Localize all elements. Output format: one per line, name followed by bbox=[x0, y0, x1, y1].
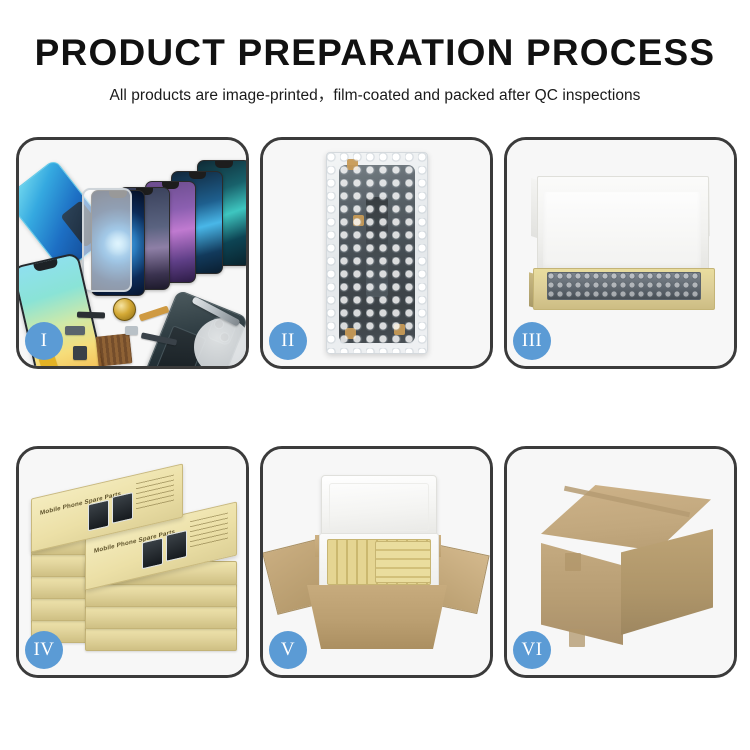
carton-tape-upper bbox=[565, 553, 581, 571]
small-part-6 bbox=[59, 368, 73, 369]
panel-step-4: Mobile Phone Spare Parts Mobile Phone Sp… bbox=[16, 446, 249, 678]
box-image-chip-2 bbox=[112, 492, 133, 524]
panel-step-5: V bbox=[260, 446, 493, 678]
screw-tray-icon bbox=[96, 333, 133, 366]
stacked-box-front-3 bbox=[85, 583, 237, 607]
badge-step-2: II bbox=[269, 322, 307, 360]
flex-cable-3 bbox=[77, 312, 105, 319]
panel-step-2: II bbox=[260, 137, 493, 369]
box-stack: Mobile Phone Spare Parts Mobile Phone Sp… bbox=[27, 469, 243, 665]
badge-step-1: I bbox=[25, 322, 63, 360]
carton-front-wall bbox=[307, 585, 447, 649]
badge-step-3: III bbox=[513, 322, 551, 360]
page-header: PRODUCT PREPARATION PROCESS All products… bbox=[0, 0, 750, 105]
hand-icon bbox=[194, 318, 249, 369]
panel-step-3: III bbox=[504, 137, 737, 369]
tape-tab-2 bbox=[353, 215, 364, 226]
badge-step-4: IV bbox=[25, 631, 63, 669]
foam-box-lid bbox=[321, 475, 437, 539]
bubble-wrap-bag bbox=[326, 152, 428, 354]
badge-step-5: V bbox=[269, 631, 307, 669]
process-steps-grid: I II III bbox=[16, 137, 734, 678]
box-print-text-lines-1 bbox=[136, 475, 174, 512]
box-image-chip-3 bbox=[142, 538, 163, 570]
box-image-chip-1 bbox=[88, 500, 109, 532]
packed-yellow-boxes-2 bbox=[375, 541, 431, 583]
foam-sheet bbox=[543, 192, 701, 270]
small-part-4 bbox=[133, 366, 142, 369]
tempered-glass-film bbox=[82, 188, 132, 292]
small-part-1 bbox=[73, 346, 87, 360]
small-part-8 bbox=[125, 326, 138, 335]
tape-tab-4 bbox=[394, 324, 405, 335]
box-print-text-lines-2 bbox=[190, 513, 228, 550]
badge-step-6: VI bbox=[513, 631, 551, 669]
stacked-box-front-5 bbox=[85, 627, 237, 651]
speaker-module-icon bbox=[113, 298, 136, 321]
small-part-7 bbox=[65, 326, 85, 335]
wrapped-phone-part bbox=[339, 165, 415, 343]
stacked-box-front-4 bbox=[85, 605, 237, 629]
page-subtitle: All products are image-printed，film-coat… bbox=[0, 83, 750, 105]
page-title: PRODUCT PREPARATION PROCESS bbox=[0, 34, 750, 73]
tape-tab-1 bbox=[347, 159, 358, 170]
carton-tape-lower bbox=[569, 629, 585, 647]
bubble-wrapped-items bbox=[547, 272, 701, 300]
box-image-chip-4 bbox=[166, 530, 187, 562]
panel-step-6: VI bbox=[504, 446, 737, 678]
small-part-2 bbox=[91, 368, 102, 369]
panel-step-1: I bbox=[16, 137, 249, 369]
tape-tab-3 bbox=[345, 328, 356, 339]
